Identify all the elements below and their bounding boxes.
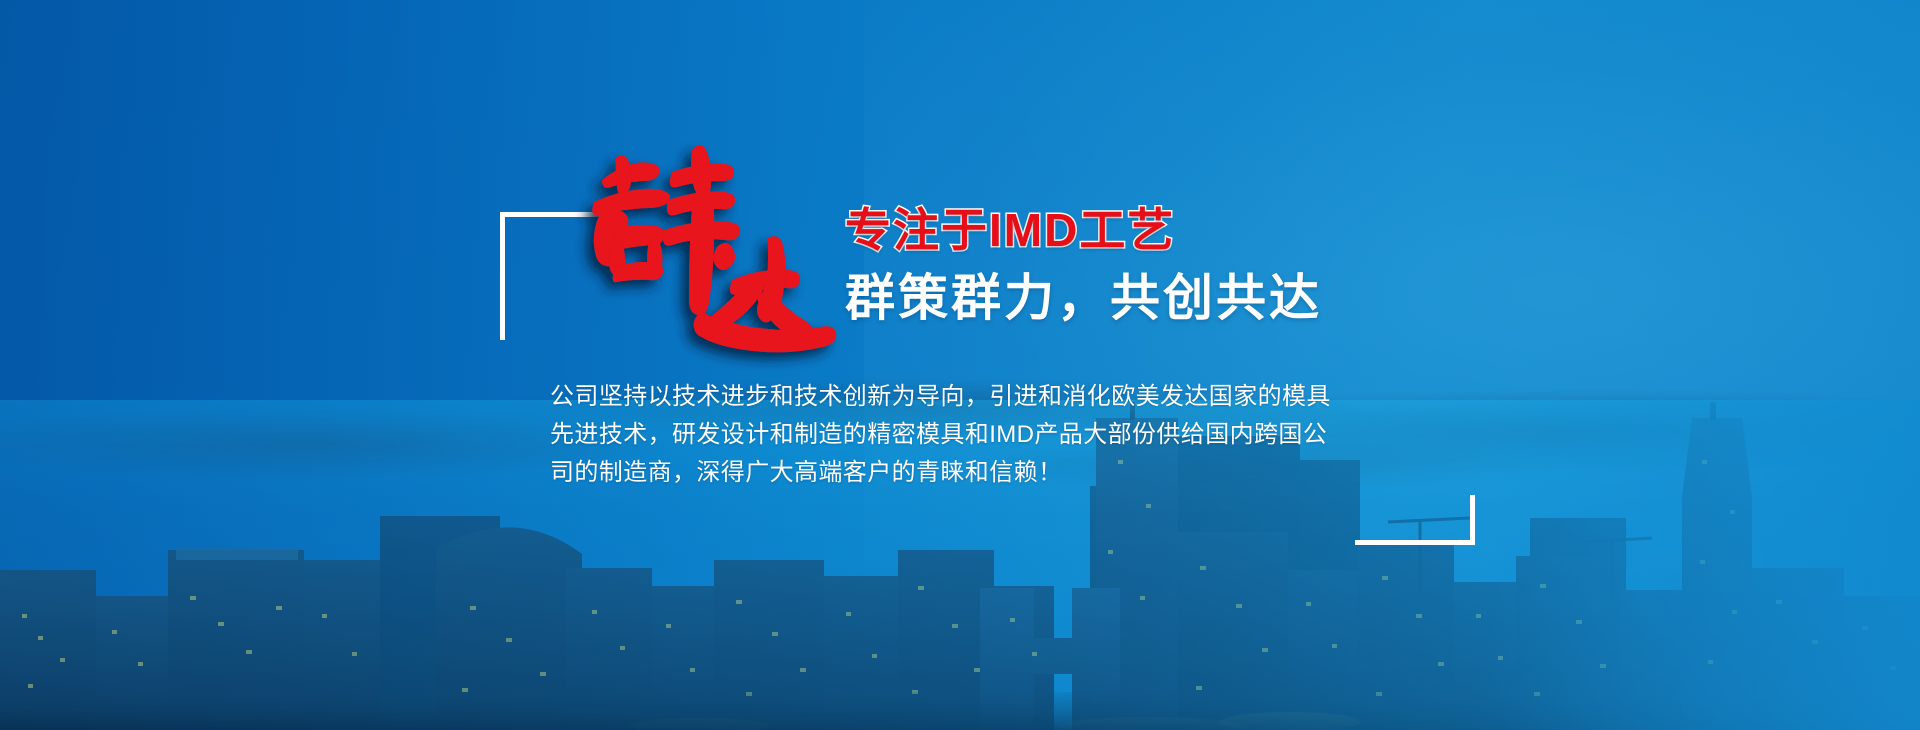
hero-banner: 专注于IMD工艺 群策群力，共创共达 公司坚持以技术进步和技术创新为导向，引进和… <box>0 0 1920 730</box>
headline-block: 专注于IMD工艺 群策群力，共创共达 <box>845 205 1745 327</box>
bracket-left-line <box>500 212 505 340</box>
bracket-bottom-line <box>1355 540 1475 545</box>
bracket-right-line <box>1470 495 1475 545</box>
headline-secondary: 群策群力，共创共达 <box>845 270 1745 328</box>
brand-logo-calligraphy <box>572 128 822 356</box>
sky-left-shade <box>0 0 806 730</box>
description-line-2: 先进技术，研发设计和制造的精密模具和IMD产品大部份供给国内跨国公 <box>550 416 1430 454</box>
bracket-top-line <box>500 212 620 217</box>
description-paragraph: 公司坚持以技术进步和技术创新为导向，引进和消化欧美发达国家的模具 先进技术，研发… <box>550 378 1430 492</box>
description-line-1: 公司坚持以技术进步和技术创新为导向，引进和消化欧美发达国家的模具 <box>550 378 1430 416</box>
sky-glow <box>864 0 1920 730</box>
city-right-fade <box>1490 400 1920 730</box>
headline-primary: 专注于IMD工艺 <box>845 205 1745 256</box>
description-line-3: 司的制造商，深得广大高端客户的青睐和信赖！ <box>550 454 1430 492</box>
corner-bracket-top-left-icon <box>500 212 620 340</box>
corner-bracket-bottom-right-icon <box>1355 495 1475 545</box>
